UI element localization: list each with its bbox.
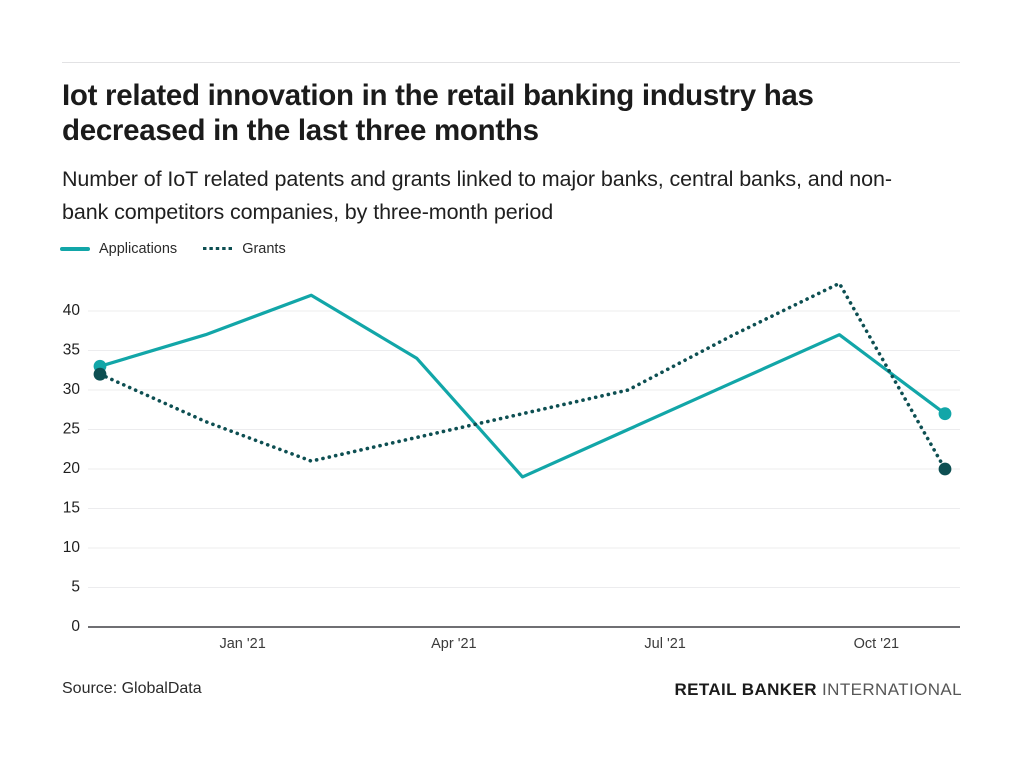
data-point-marker-applications[interactable] [939, 407, 952, 420]
data-series-layer [94, 283, 952, 477]
y-axis-tick-label: 5 [71, 579, 80, 596]
data-point-marker-grants[interactable] [94, 368, 107, 381]
y-axis-tick-label: 35 [63, 342, 80, 359]
brand-name-light: INTERNATIONAL [822, 680, 962, 699]
y-axis-tick-label: 30 [63, 381, 81, 398]
y-axis-tick-label: 20 [63, 460, 81, 477]
y-axis-tick-label: 15 [63, 500, 80, 517]
x-axis-tick-labels: Jan '21Apr '21Jul '21Oct '21 [219, 636, 899, 652]
chart-plot-area: 0510152025303540 Jan '21Apr '21Jul '21Oc… [0, 0, 1024, 768]
series-line-applications [100, 295, 945, 477]
y-axis-tick-label: 0 [71, 618, 80, 635]
brand-name-bold: RETAIL BANKER [674, 680, 816, 699]
source-note: Source: GlobalData [62, 680, 202, 698]
x-axis-tick-label: Jan '21 [219, 636, 265, 652]
y-axis-tick-labels: 0510152025303540 [63, 302, 81, 635]
line-chart-svg: 0510152025303540 Jan '21Apr '21Jul '21Oc… [0, 0, 1024, 768]
chart-card: Iot related innovation in the retail ban… [0, 0, 1024, 768]
x-axis-tick-label: Jul '21 [644, 636, 685, 652]
x-axis-tick-label: Apr '21 [431, 636, 477, 652]
y-axis-tick-label: 10 [63, 539, 81, 556]
x-axis-tick-label: Oct '21 [854, 636, 899, 652]
y-axis-tick-label: 40 [63, 302, 81, 319]
data-point-marker-grants[interactable] [939, 463, 952, 476]
brand-logo: RETAIL BANKER INTERNATIONAL [674, 680, 962, 700]
grid-lines [88, 311, 960, 588]
y-axis-tick-label: 25 [63, 421, 80, 438]
